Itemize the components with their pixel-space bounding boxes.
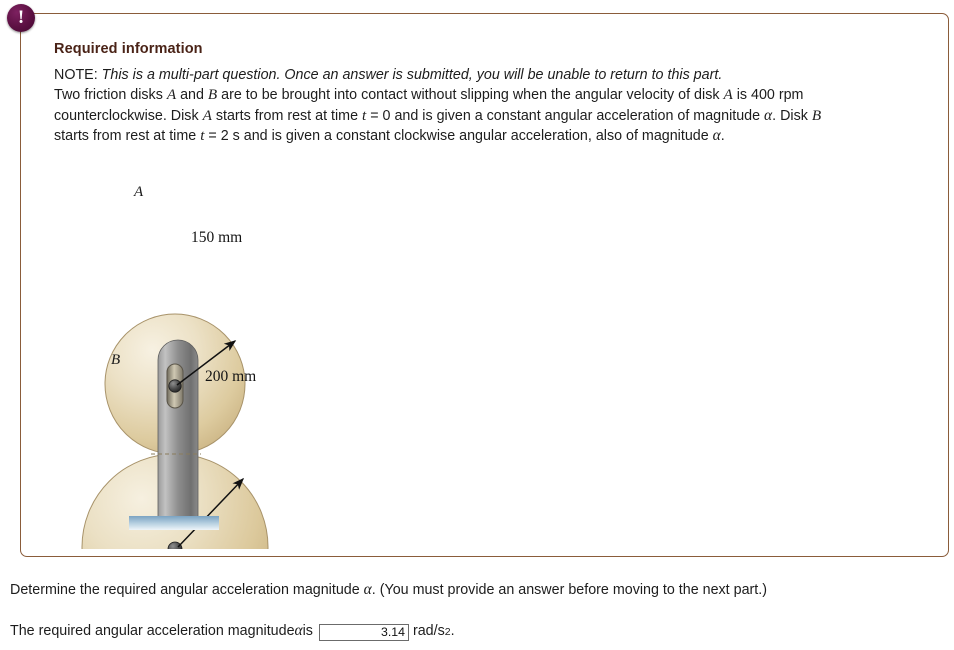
exclamation-glyph: ! xyxy=(18,8,24,27)
disk-a-ref: A xyxy=(167,86,176,103)
question-prompt: Determine the required angular accelerat… xyxy=(10,581,767,599)
alpha-symbol: α xyxy=(713,127,721,144)
body-text: Two friction disks xyxy=(54,87,167,103)
body-text: . Disk xyxy=(772,108,812,124)
question-note-text: NOTE: This is a multi-part question. Onc… xyxy=(54,66,920,147)
disk-b-ref: B xyxy=(812,107,821,124)
required-information-panel: Required information NOTE: This is a mul… xyxy=(20,13,949,557)
note-line-2: Two friction disks A and B are to be bro… xyxy=(54,85,920,105)
alpha-symbol: α xyxy=(364,581,372,598)
answer-label: is xyxy=(303,623,313,639)
body-text: is 400 rpm xyxy=(733,87,804,103)
note-line-4: starts from rest at time t = 2 s and is … xyxy=(54,126,920,146)
prompt-text: . (You must provide an answer before mov… xyxy=(372,582,767,598)
body-text: are to be brought into contact without s… xyxy=(217,87,723,103)
body-text: starts from rest at time xyxy=(212,108,362,124)
disk-a-label: A xyxy=(133,184,144,200)
disk-b-label: B xyxy=(111,352,120,368)
answer-row: The required angular acceleration magnit… xyxy=(10,622,455,640)
answer-label: The required angular acceleration magnit… xyxy=(10,623,295,639)
body-text: and xyxy=(176,87,208,103)
answer-unit: rad/s xyxy=(413,623,445,639)
disk-b-ref: B xyxy=(208,86,217,103)
friction-disks-figure: A B 150 mm 200 mm xyxy=(81,164,341,549)
body-text: . xyxy=(721,128,725,144)
ground-base-plate xyxy=(129,516,219,530)
note-italic-text: This is a multi-part question. Once an a… xyxy=(102,67,723,83)
body-text: = 0 and is given a constant angular acce… xyxy=(366,108,764,124)
body-text: starts from rest at time xyxy=(54,128,200,144)
angular-acceleration-input[interactable] xyxy=(319,624,409,641)
disk-a-ref: A xyxy=(723,86,732,103)
body-text: = 2 s and is given a constant clockwise … xyxy=(204,128,712,144)
required-information-alert-icon: ! xyxy=(7,4,35,32)
note-line-3: counterclockwise. Disk A starts from res… xyxy=(54,106,920,126)
prompt-text: Determine the required angular accelerat… xyxy=(10,582,364,598)
alpha-symbol: α xyxy=(295,622,303,640)
note-line-1: NOTE: This is a multi-part question. Onc… xyxy=(54,66,920,85)
body-text: counterclockwise. Disk xyxy=(54,108,203,124)
disk-a-ref: A xyxy=(203,107,212,124)
disk-a-dimension-label: 150 mm xyxy=(191,229,242,246)
disk-a-hub xyxy=(169,380,181,392)
answer-trailing-period: . xyxy=(451,623,455,639)
alpha-symbol: α xyxy=(764,107,772,124)
figure-svg: A B 150 mm 200 mm xyxy=(81,164,341,549)
disk-b-dimension-label: 200 mm xyxy=(205,368,256,385)
panel-heading: Required information xyxy=(54,41,203,57)
note-label: NOTE: xyxy=(54,67,98,83)
